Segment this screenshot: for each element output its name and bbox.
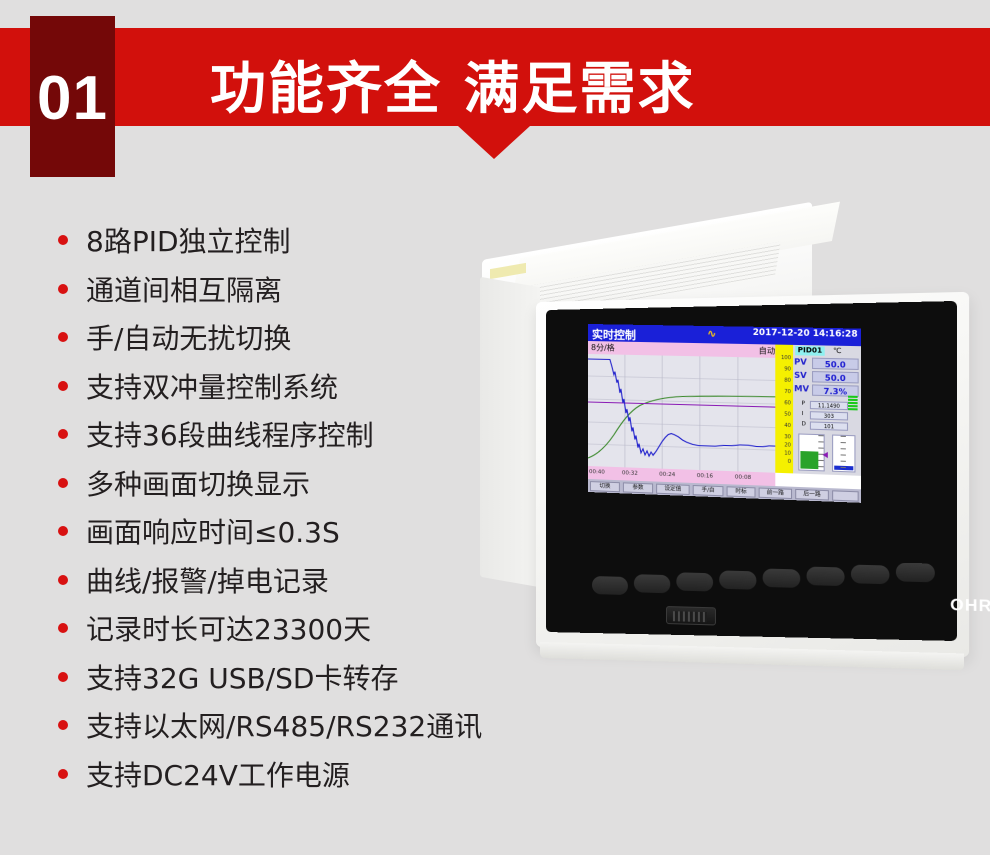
- lcd-pid-panel: PID01 ℃ PV 50.0 SV 50.0 MV 7.3% P 11.149…: [793, 345, 861, 476]
- signal-bars-icon: [848, 396, 858, 411]
- lcd-trend-plot: [588, 354, 775, 473]
- device-usb-port: [666, 606, 716, 625]
- product-device: 实时控制 ∿ 2017-12-20 14:16:28 8分/格 自动: [480, 258, 980, 668]
- hardware-button-3[interactable]: [676, 572, 713, 591]
- hardware-button-8[interactable]: [896, 563, 935, 583]
- bullet-icon: [58, 720, 68, 730]
- lcd-mode-label: 自动: [759, 345, 776, 357]
- feature-label: 支持36段曲线程序控制: [86, 414, 374, 454]
- mv-gauge-fill: [800, 451, 818, 469]
- i-label: I: [801, 411, 803, 417]
- bullet-icon: [58, 526, 68, 536]
- banner-arrow-notch: [458, 126, 530, 159]
- lcd-y-axis: 100 90 80 70 60 50 40 30 20 10 0: [775, 345, 793, 474]
- y-tick: 90: [784, 367, 791, 372]
- list-item: 8路PID独立控制: [58, 216, 528, 265]
- y-tick: 70: [784, 390, 791, 395]
- feature-label: 记录时长可达23300天: [86, 608, 371, 648]
- list-item: 支持DC24V工作电源: [58, 750, 528, 799]
- bullet-icon: [58, 381, 68, 391]
- list-item: 曲线/报警/掉电记录: [58, 556, 528, 605]
- p-value: 11.1490: [810, 401, 848, 410]
- bullet-icon: [58, 235, 68, 245]
- lcd-datetime: 2017-12-20 14:16:28: [753, 328, 858, 340]
- mv-label: MV: [794, 384, 809, 394]
- feature-label: 多种画面切换显示: [86, 463, 310, 503]
- usb-port-inner: [673, 611, 707, 622]
- pid-channel-badge: PID01: [795, 346, 824, 356]
- time-tick: 00:24: [659, 472, 675, 479]
- pid-param-row: D 101: [801, 421, 850, 431]
- pid-param-row: P 11.1490: [801, 401, 850, 411]
- feature-label: 支持32G USB/SD卡转存: [86, 657, 398, 697]
- mv-gauge: [798, 433, 824, 471]
- softkey-next-channel[interactable]: 后一路: [795, 488, 829, 500]
- list-item: 支持32G USB/SD卡转存: [58, 653, 528, 702]
- bullet-icon: [58, 623, 68, 633]
- feature-list: 8路PID独立控制 通道间相互隔离 手/自动无扰切换 支持双冲量控制系统 支持3…: [58, 216, 528, 798]
- i-value: 303: [810, 411, 848, 420]
- d-label: D: [801, 421, 805, 427]
- list-item: 记录时长可达23300天: [58, 604, 528, 653]
- sv-trace: [588, 402, 775, 407]
- feature-label: 支持以太网/RS485/RS232通讯: [86, 705, 482, 745]
- section-number: 01: [30, 58, 115, 138]
- mv-gauge-marker-icon: [823, 452, 828, 458]
- pid-param-row: I 303: [801, 411, 850, 421]
- hardware-button-6[interactable]: [807, 567, 845, 587]
- valve-gauge-ticks: [841, 436, 846, 471]
- bullet-icon: [58, 429, 68, 439]
- p-label: P: [801, 401, 805, 407]
- y-tick: 40: [784, 424, 791, 429]
- list-item: 多种画面切换显示: [58, 459, 528, 508]
- device-left-side: [480, 277, 540, 588]
- list-item: 支持以太网/RS485/RS232通讯: [58, 701, 528, 750]
- hardware-button-5[interactable]: [763, 568, 801, 587]
- ribbon-bottom-notch: [30, 153, 114, 177]
- time-tick: 00:16: [697, 473, 713, 480]
- softkey-params[interactable]: 参数: [623, 482, 653, 493]
- feature-label: 曲线/报警/掉电记录: [86, 560, 329, 600]
- time-tick: 00:08: [735, 474, 751, 481]
- bullet-icon: [58, 672, 68, 682]
- y-tick: 50: [784, 412, 791, 417]
- lcd-wave-logo-icon: ∿: [707, 327, 716, 340]
- softkey-switch[interactable]: 切换: [590, 481, 620, 492]
- y-tick: 0: [788, 460, 791, 465]
- feature-label: 8路PID独立控制: [86, 220, 291, 260]
- y-tick: 100: [781, 356, 791, 361]
- bullet-icon: [58, 284, 68, 294]
- list-item: 支持双冲量控制系统: [58, 362, 528, 411]
- hardware-button-4[interactable]: [719, 570, 756, 589]
- softkey-blank[interactable]: [832, 490, 859, 501]
- time-tick: 00:40: [589, 469, 605, 476]
- y-tick: 10: [784, 452, 791, 457]
- banner-title: 功能齐全 满足需求: [210, 44, 696, 125]
- list-item: 通道间相互隔离: [58, 265, 528, 314]
- brand-logo: OHR: [950, 596, 990, 616]
- pv-value: 50.0: [812, 358, 859, 370]
- device-lcd-screen: 实时控制 ∿ 2017-12-20 14:16:28 8分/格 自动: [588, 324, 861, 503]
- softkey-timemark[interactable]: 时标: [727, 486, 756, 497]
- y-tick: 60: [784, 401, 791, 406]
- y-tick: 30: [784, 435, 791, 440]
- list-item: 手/自动无扰切换: [58, 313, 528, 362]
- feature-label: 通道间相互隔离: [86, 269, 282, 309]
- softkey-manauto[interactable]: 手/自: [693, 484, 724, 495]
- hardware-button-7[interactable]: [851, 565, 889, 585]
- feature-label: 手/自动无扰切换: [86, 317, 291, 357]
- bullet-icon: [58, 575, 68, 585]
- bullet-icon: [58, 332, 68, 342]
- y-tick: 20: [784, 443, 791, 448]
- y-tick: 80: [784, 379, 791, 384]
- d-value: 101: [810, 421, 848, 430]
- sv-label: SV: [794, 371, 807, 381]
- section-banner: 01 功能齐全 满足需求: [0, 28, 990, 160]
- sv-value: 50.0: [812, 371, 859, 383]
- softkey-setpoint[interactable]: 设定值: [656, 483, 690, 494]
- list-item: 支持36段曲线程序控制: [58, 410, 528, 459]
- bullet-icon: [58, 478, 68, 488]
- hardware-button-1[interactable]: [592, 576, 628, 595]
- time-tick: 00:32: [622, 470, 638, 477]
- chart-gridlines: [588, 354, 775, 473]
- trend-chart-svg: [588, 354, 775, 473]
- feature-label: 支持DC24V工作电源: [86, 754, 350, 794]
- feature-label: 画面响应时间≤0.3S: [86, 511, 340, 551]
- pid-unit-label: ℃: [833, 347, 841, 355]
- hardware-button-2[interactable]: [634, 574, 670, 593]
- valve-gauge: [832, 435, 855, 473]
- pv-label: PV: [794, 357, 807, 367]
- softkey-prev-channel[interactable]: 前一路: [759, 487, 792, 499]
- lcd-time-scale-label: 8分/格: [591, 342, 615, 353]
- list-item: 画面响应时间≤0.3S: [58, 507, 528, 556]
- feature-label: 支持双冲量控制系统: [86, 366, 338, 406]
- bullet-icon: [58, 769, 68, 779]
